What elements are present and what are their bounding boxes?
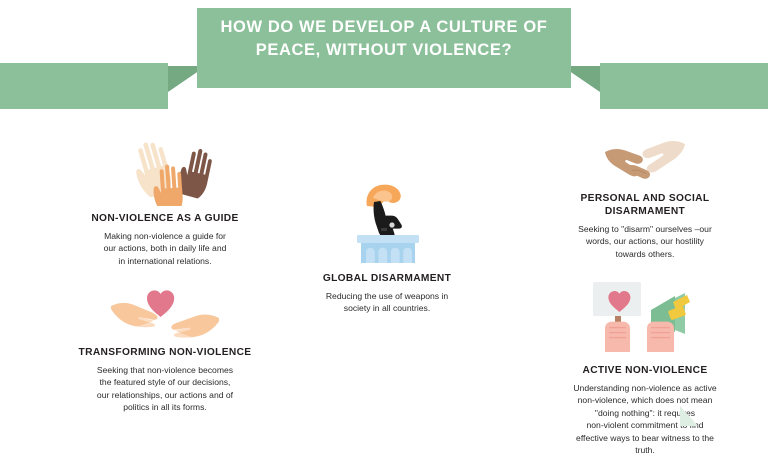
infographic-root: How do we develop a culture of peace, wi…: [0, 0, 768, 426]
panel-body: Reducing the use of weapons in society i…: [292, 290, 482, 315]
panel-title: Active non-violence: [540, 364, 750, 377]
panel-transforming-nonviolence: Transforming non-violence Seeking that n…: [70, 284, 260, 414]
panel-title: Global disarmament: [292, 272, 482, 285]
panel-body: Seeking to "disarm" ourselves –our words…: [545, 223, 745, 260]
panel-title: Personal and social disarmament: [545, 192, 745, 218]
panel-personal-social-disarmament: Personal and social disarmament Seeking …: [545, 136, 745, 260]
three-raised-hands-icon: [113, 134, 217, 206]
banner-title: How do we develop a culture of peace, wi…: [200, 16, 568, 62]
panel-title: Non-violence as a guide: [70, 212, 260, 225]
panel-body: Making non-violence a guide for our acti…: [70, 230, 260, 267]
hands-holding-heart-icon: [107, 284, 223, 340]
panel-body: Seeking that non-violence becomes the fe…: [70, 364, 260, 414]
protest-sign-and-megaphone-icon: [589, 280, 701, 358]
ribbon-banner: How do we develop a culture of peace, wi…: [0, 0, 768, 110]
handshake-icon: [603, 136, 687, 184]
panel-nonviolence-guide: Non-violence as a guide Making non-viole…: [70, 134, 260, 267]
panel-title: Transforming non-violence: [70, 346, 260, 359]
hand-dropping-gun-in-box-icon: [347, 182, 427, 264]
panel-active-nonviolence: Active non-violence Understanding non-vi…: [540, 280, 750, 456]
panel-body: Understanding non-violence as active non…: [540, 382, 750, 456]
panel-global-disarmament: Global disarmament Reducing the use of w…: [292, 182, 482, 315]
